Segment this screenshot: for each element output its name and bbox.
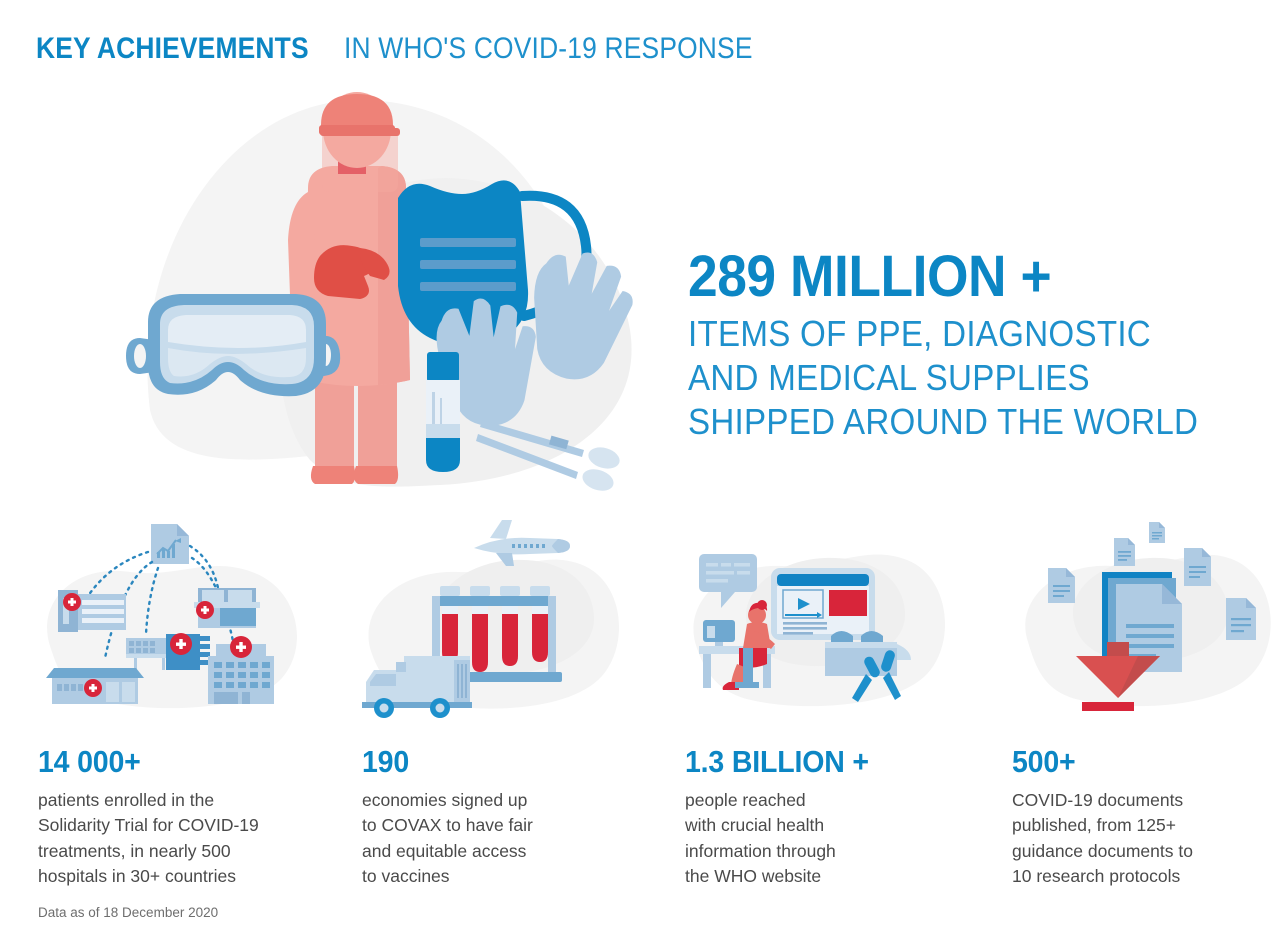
stat-line-2: Solidarity Trial for COVID-19 xyxy=(38,813,328,838)
ppe-supplies-illustration xyxy=(110,80,670,510)
stat-line-3: information through xyxy=(685,839,975,864)
stat-line-1: COVID-19 documents xyxy=(1012,788,1280,813)
hero-desc-line-1: ITEMS OF PPE, DIAGNOSTIC xyxy=(688,312,1240,356)
page-title: KEY ACHIEVEMENTS IN WHO'S COVID-19 RESPO… xyxy=(36,32,808,66)
stat-description: COVID-19 documents published, from 125+ … xyxy=(1012,788,1280,890)
stat-line-4: to vaccines xyxy=(362,864,652,889)
stat-description: economies signed up to COVAX to have fai… xyxy=(362,788,652,890)
online-health-information-icon xyxy=(677,516,982,716)
hospital-network-icon xyxy=(30,516,335,716)
stat-line-1: economies signed up xyxy=(362,788,652,813)
stat-line-1: people reached xyxy=(685,788,975,813)
stat-number: 500+ xyxy=(1012,744,1076,780)
statistics-row: 14 000+ patients enrolled in the Solidar… xyxy=(0,516,1280,916)
stat-card-documents: 500+ COVID-19 documents published, from … xyxy=(1004,516,1280,716)
vaccine-distribution-icon xyxy=(354,516,659,716)
hero-description: ITEMS OF PPE, DIAGNOSTIC AND MEDICAL SUP… xyxy=(688,312,1240,444)
infographic-canvas: KEY ACHIEVEMENTS IN WHO'S COVID-19 RESPO… xyxy=(0,0,1280,950)
stat-line-2: published, from 125+ xyxy=(1012,813,1280,838)
hero-statistic: 289 MILLION + ITEMS OF PPE, DIAGNOSTIC A… xyxy=(688,248,1248,444)
stat-card-solidarity-trial: 14 000+ patients enrolled in the Solidar… xyxy=(30,516,335,716)
stat-card-covax: 190 economies signed up to COVAX to have… xyxy=(354,516,659,716)
stat-number: 1.3 BILLION + xyxy=(685,744,869,780)
hero-desc-line-3: SHIPPED AROUND THE WORLD xyxy=(688,400,1240,444)
stat-line-4: 10 research protocols xyxy=(1012,864,1280,889)
stat-description: people reached with crucial health infor… xyxy=(685,788,975,890)
ppe-illustration-svg xyxy=(110,80,670,510)
stat-card-who-website: 1.3 BILLION + people reached with crucia… xyxy=(677,516,982,716)
stat-line-2: to COVAX to have fair xyxy=(362,813,652,838)
stat-line-2: with crucial health xyxy=(685,813,975,838)
stat-line-1: patients enrolled in the xyxy=(38,788,328,813)
stat-line-3: treatments, in nearly 500 xyxy=(38,839,328,864)
hero-number: 289 MILLION + xyxy=(688,248,1051,306)
document-download-icon xyxy=(1004,516,1280,716)
page-title-light: IN WHO'S COVID-19 RESPONSE xyxy=(344,32,753,66)
stat-line-4: the WHO website xyxy=(685,864,975,889)
stat-line-4: hospitals in 30+ countries xyxy=(38,864,328,889)
stat-line-3: and equitable access xyxy=(362,839,652,864)
data-date-footnote: Data as of 18 December 2020 xyxy=(38,905,218,920)
stat-description: patients enrolled in the Solidarity Tria… xyxy=(38,788,328,890)
stat-number: 14 000+ xyxy=(38,744,141,780)
stat-line-3: guidance documents to xyxy=(1012,839,1280,864)
test-tube xyxy=(426,352,460,472)
page-title-strong: KEY ACHIEVEMENTS xyxy=(36,32,309,66)
hero-section: 289 MILLION + ITEMS OF PPE, DIAGNOSTIC A… xyxy=(0,80,1280,520)
stat-number: 190 xyxy=(362,744,409,780)
hero-desc-line-2: AND MEDICAL SUPPLIES xyxy=(688,356,1240,400)
